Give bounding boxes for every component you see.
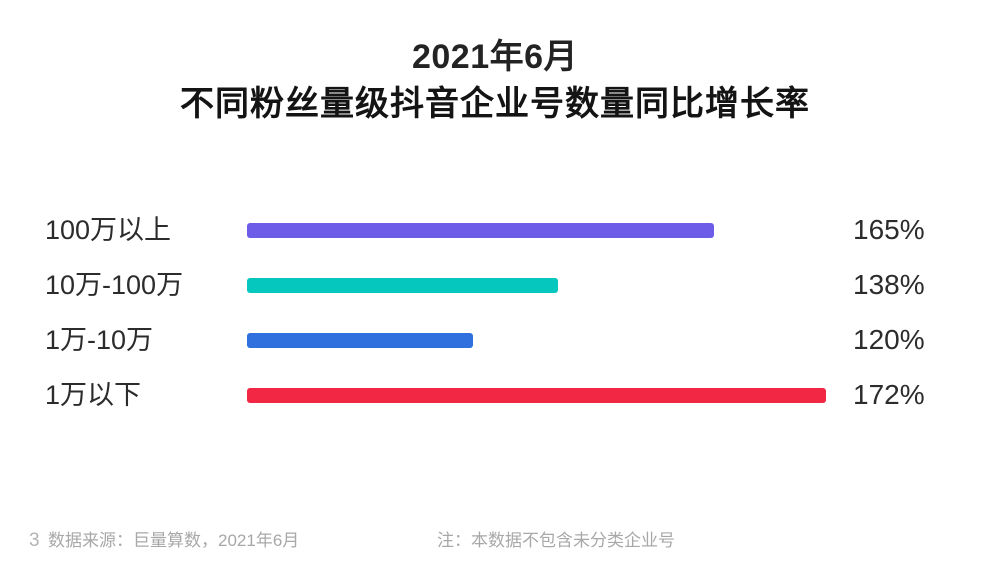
page-number: 3 — [29, 527, 40, 555]
footer-data-source: 数据来源：巨量算数，2021年6月 — [48, 527, 299, 555]
bar-row: 1万-10万120% — [0, 318, 990, 362]
bar-fill — [247, 388, 826, 403]
bar-fill — [247, 278, 558, 293]
bar-value-label: 120% — [853, 318, 925, 362]
bar-chart: 100万以上165%10万-100万138%1万-10万120%1万以下172% — [0, 208, 990, 458]
bar-value-label: 165% — [853, 208, 925, 252]
chart-title-block: 2021年6月 不同粉丝量级抖音企业号数量同比增长率 — [0, 34, 990, 128]
bar-category-label: 100万以上 — [45, 208, 171, 252]
bar-track — [247, 373, 826, 417]
bar-row: 1万以下172% — [0, 373, 990, 417]
slide-footer: 3 数据来源：巨量算数，2021年6月 注：本数据不包含未分类企业号 — [0, 527, 990, 561]
footer-note: 注：本数据不包含未分类企业号 — [437, 527, 675, 555]
chart-title-period: 2021年6月 — [0, 34, 990, 80]
bar-row: 10万-100万138% — [0, 263, 990, 307]
bar-fill — [247, 223, 714, 238]
bar-category-label: 1万以下 — [45, 373, 141, 417]
bar-category-label: 1万-10万 — [45, 318, 153, 362]
slide-canvas: 2021年6月 不同粉丝量级抖音企业号数量同比增长率 100万以上165%10万… — [0, 0, 990, 578]
bar-track — [247, 208, 714, 252]
bar-row: 100万以上165% — [0, 208, 990, 252]
chart-title-main: 不同粉丝量级抖音企业号数量同比增长率 — [0, 80, 990, 128]
bar-category-label: 10万-100万 — [45, 263, 183, 307]
bar-fill — [247, 333, 473, 348]
bar-value-label: 138% — [853, 263, 925, 307]
bar-value-label: 172% — [853, 373, 925, 417]
bar-track — [247, 318, 473, 362]
bar-track — [247, 263, 558, 307]
